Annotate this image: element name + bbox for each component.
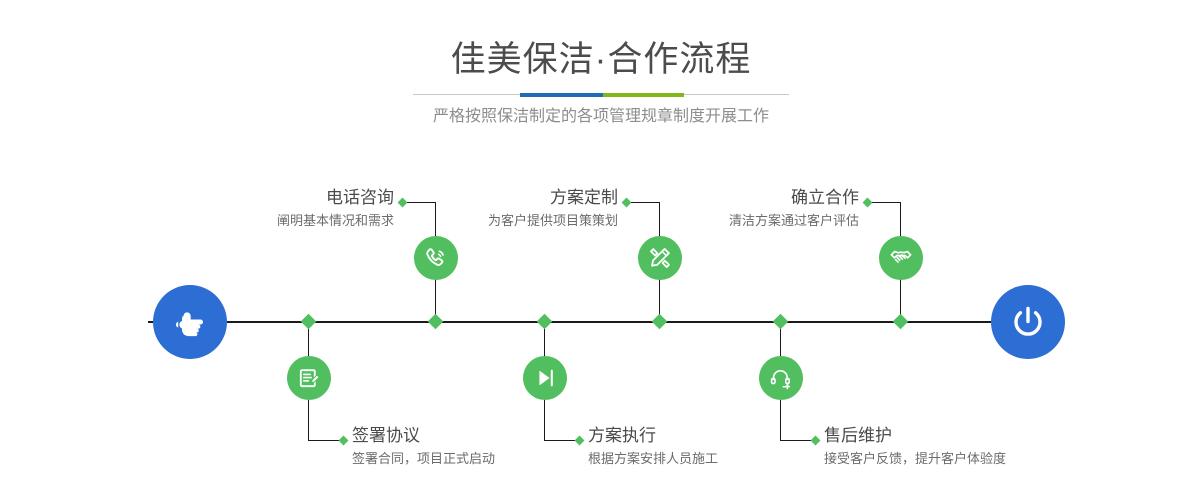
step-2-title: 签署协议 — [352, 424, 495, 448]
step-3-branch-dot — [622, 198, 632, 208]
phone-call-icon — [423, 245, 449, 271]
step-1-desc: 阐明基本情况和需求 — [277, 210, 394, 232]
document-edit-icon — [296, 365, 322, 391]
title-divider — [413, 93, 789, 97]
step-5-desc: 清洁方案通过客户评估 — [729, 210, 859, 232]
step-2-label: 签署协议 签署合同，项目正式启动 — [352, 424, 495, 470]
step-3-desc: 为客户提供项目策策划 — [488, 210, 618, 232]
step-6-branch-dot — [811, 436, 821, 446]
handshake-icon — [888, 245, 914, 271]
axis-diamond-1 — [301, 314, 317, 330]
page-title: 佳美保洁·合作流程 — [0, 38, 1202, 82]
step-5-stem-label — [900, 202, 901, 236]
pencil-ruler-icon — [647, 245, 673, 271]
timeline-start-cap — [153, 285, 227, 359]
step-5-label: 确立合作 清洁方案通过客户评估 — [729, 186, 859, 232]
step-5-branch-dot — [863, 198, 873, 208]
step-6-stem-label — [780, 400, 781, 441]
divider-segment-blue — [520, 93, 603, 97]
step-4-title: 方案执行 — [588, 424, 718, 448]
power-icon — [1007, 301, 1049, 343]
headset-support-icon — [768, 365, 794, 391]
step-6-node[interactable] — [759, 356, 803, 400]
step-1-title: 电话咨询 — [277, 186, 394, 210]
flowchart-page: 佳美保洁·合作流程 严格按照保洁制定的各项管理规章制度开展工作 — [0, 0, 1202, 502]
step-1-branch-dot — [398, 198, 408, 208]
step-4-branch-dot — [575, 436, 585, 446]
step-6-desc: 接受客户反馈，提升客户体验度 — [824, 448, 1006, 470]
step-2-node[interactable] — [287, 356, 331, 400]
step-1-stem-label — [435, 202, 436, 236]
step-5-node[interactable] — [879, 236, 923, 280]
axis-diamond-6 — [893, 314, 909, 330]
step-4-stem-label — [544, 400, 545, 441]
step-3-title: 方案定制 — [488, 186, 618, 210]
step-2-branch-dot — [339, 436, 349, 446]
axis-diamond-4 — [652, 314, 668, 330]
divider-segment-green — [603, 93, 684, 97]
step-1-node[interactable] — [414, 236, 458, 280]
pointing-hand-icon — [170, 302, 210, 342]
timeline-axis — [148, 321, 1054, 323]
axis-diamond-5 — [773, 314, 789, 330]
page-subtitle: 严格按照保洁制定的各项管理规章制度开展工作 — [0, 105, 1202, 129]
step-1-label: 电话咨询 阐明基本情况和需求 — [277, 186, 394, 232]
timeline-end-cap — [991, 285, 1065, 359]
step-6-label: 售后维护 接受客户反馈，提升客户体验度 — [824, 424, 1006, 470]
step-5-title: 确立合作 — [729, 186, 859, 210]
axis-diamond-3 — [537, 314, 553, 330]
step-4-desc: 根据方案安排人员施工 — [588, 448, 718, 470]
step-3-stem-label — [659, 202, 660, 236]
step-3-node[interactable] — [638, 236, 682, 280]
step-2-stem-label — [308, 400, 309, 441]
axis-diamond-2 — [428, 314, 444, 330]
play-execute-icon — [532, 365, 558, 391]
step-6-title: 售后维护 — [824, 424, 1006, 448]
step-3-label: 方案定制 为客户提供项目策策划 — [488, 186, 618, 232]
step-4-label: 方案执行 根据方案安排人员施工 — [588, 424, 718, 470]
step-2-desc: 签署合同，项目正式启动 — [352, 448, 495, 470]
step-4-node[interactable] — [523, 356, 567, 400]
